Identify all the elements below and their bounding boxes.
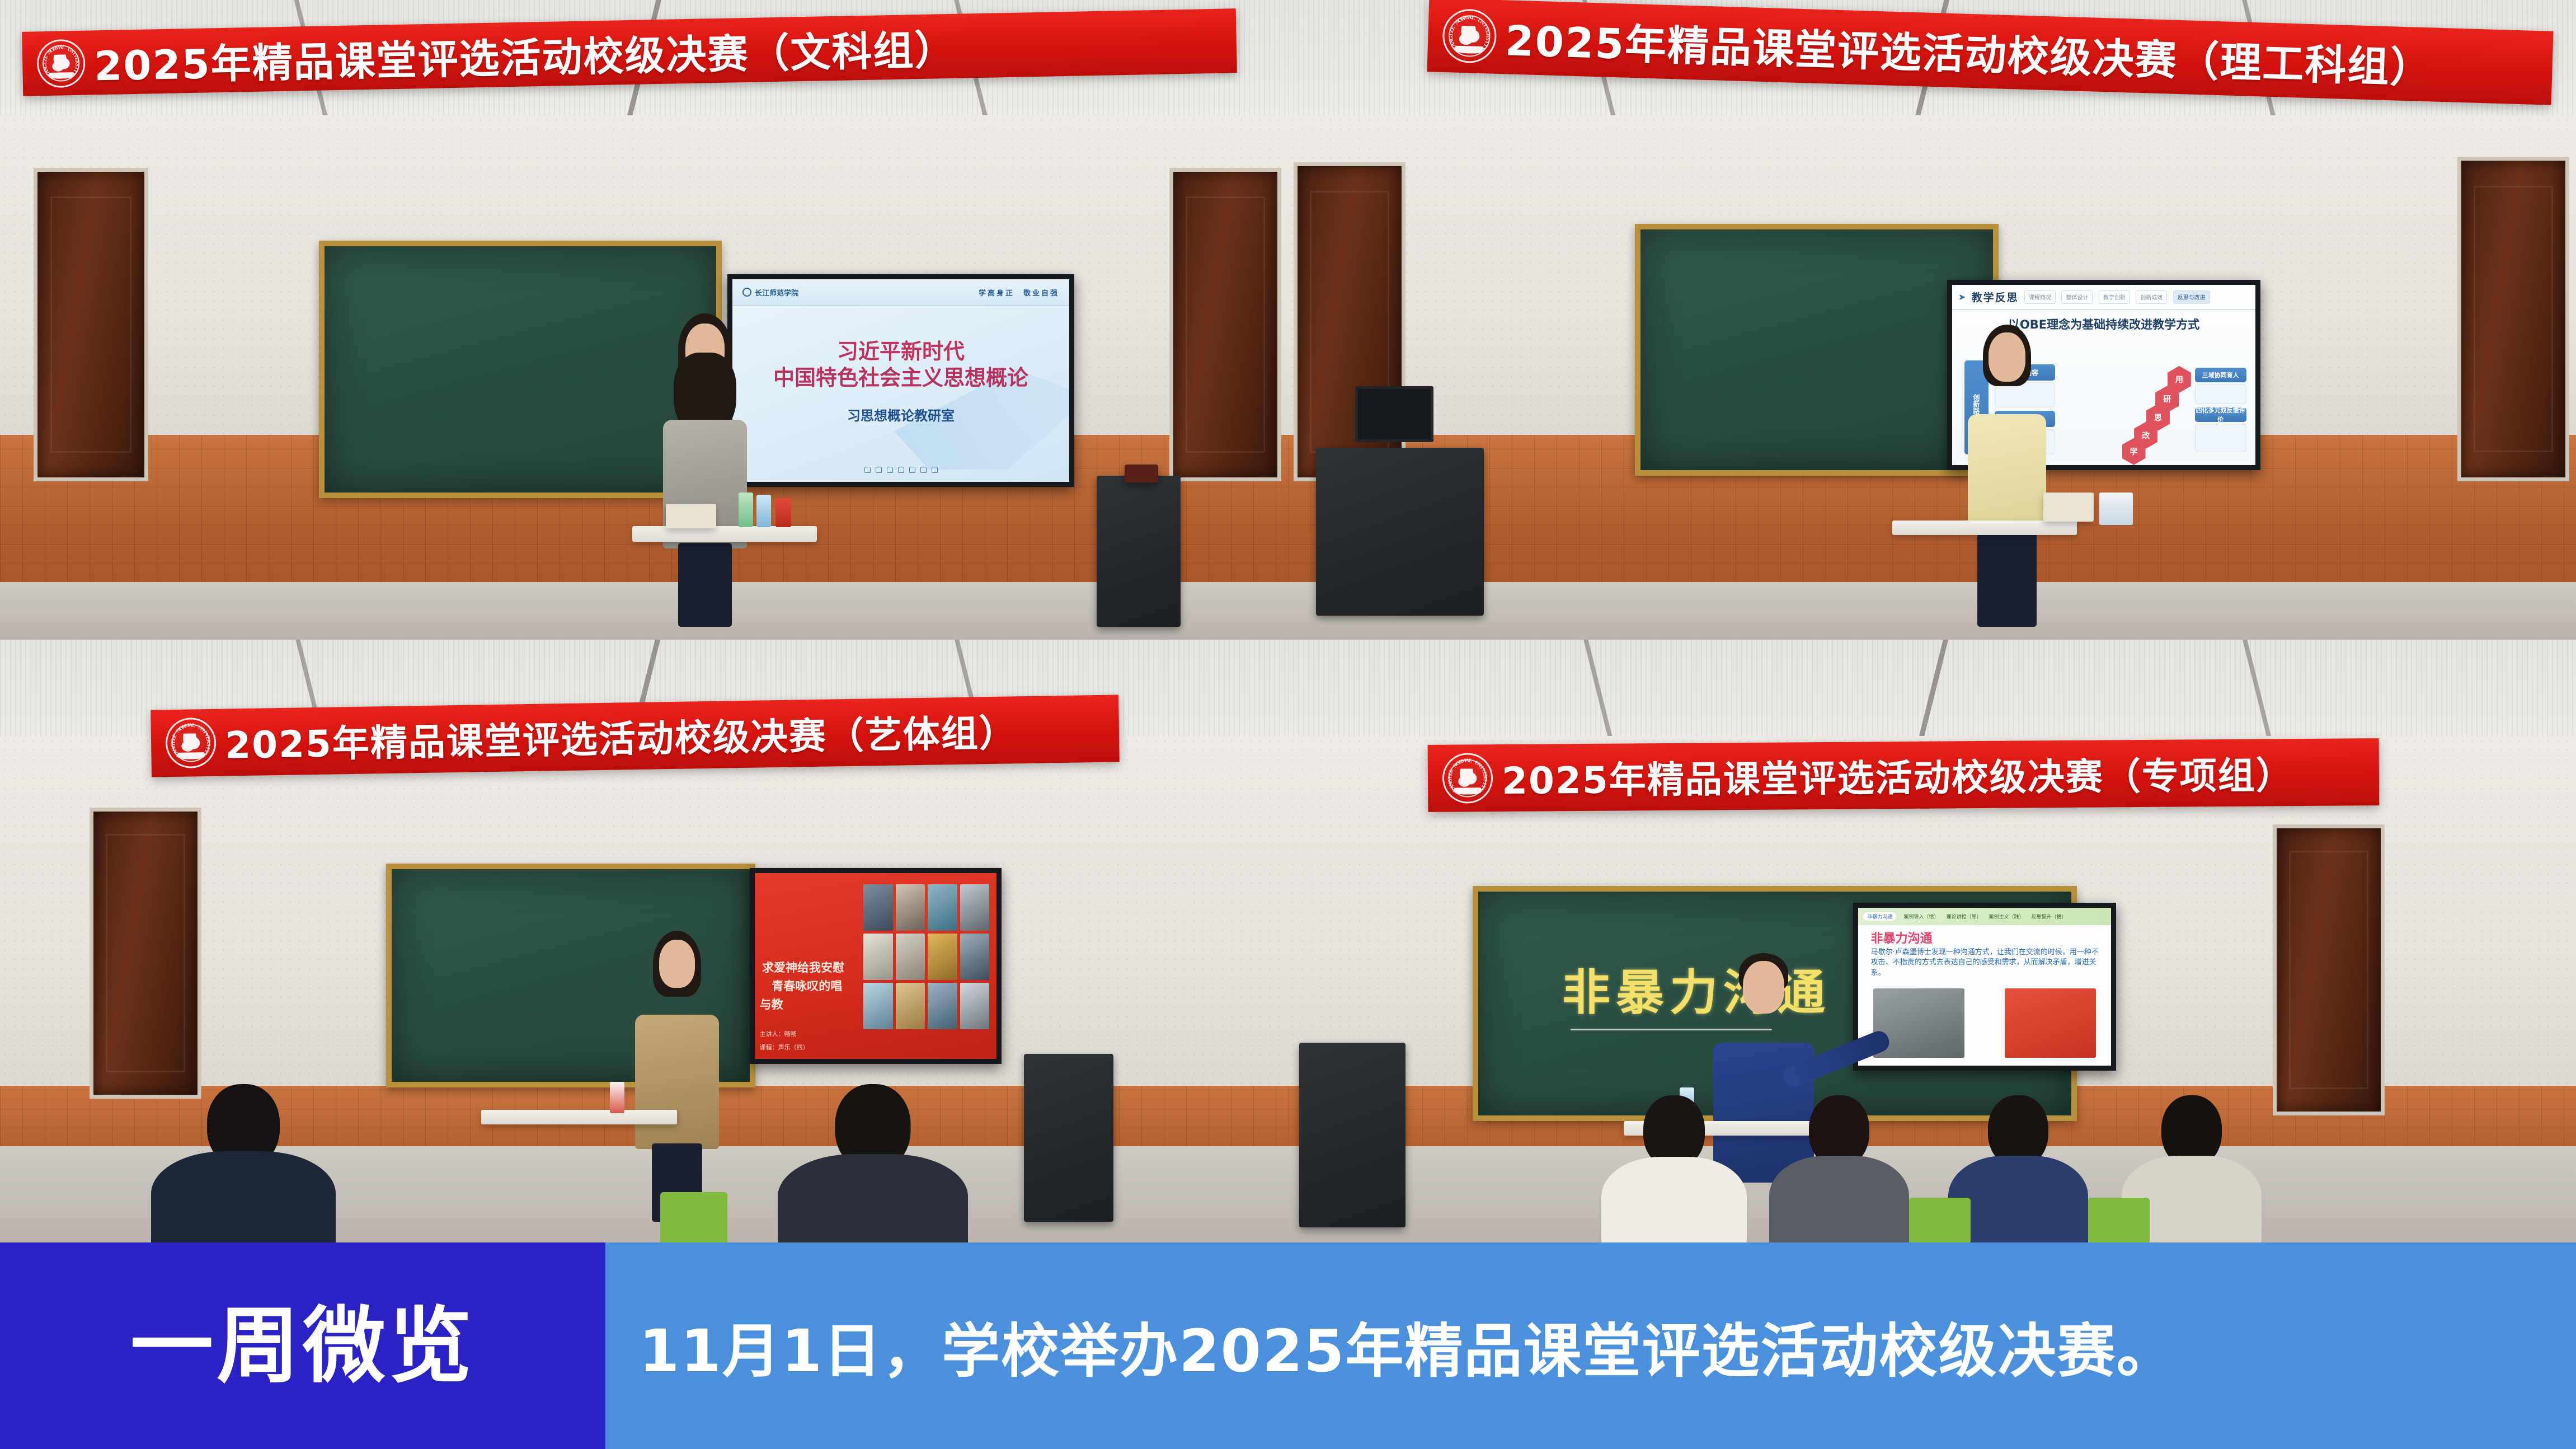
- computer-monitor: [1355, 386, 1433, 442]
- photo-panel-top-left: YANGTZE NORMAL UNIVERSITY 2025年精品课堂评选活动校…: [0, 0, 1288, 640]
- legs: [1977, 526, 2037, 627]
- tab-teaching-innovation[interactable]: 教学创新: [2099, 290, 2130, 304]
- classroom-door: [34, 168, 148, 481]
- banner-text: 2025年精品课堂评选活动校级决赛（艺体组）: [224, 703, 1017, 769]
- audience-row: [1288, 1086, 2576, 1242]
- seal-university-text: YANGTZE NORMAL UNIVERSITY: [1444, 754, 1492, 802]
- card-four-feedback: 四化多元双反馈评价: [2195, 407, 2246, 422]
- seal-university-text: YANGTZE NORMAL UNIVERSITY: [1444, 10, 1496, 62]
- nav-item-case-intro[interactable]: 案例导入（情）: [1903, 913, 1939, 920]
- floor: [0, 582, 1288, 640]
- slide-header-title: 教学反思: [1972, 289, 2019, 304]
- slide-topbar: 长江师范学院 学高身正 敬业自强: [732, 279, 1069, 306]
- head: [659, 940, 695, 988]
- supply-box: [2099, 493, 2133, 525]
- blackboard: [1635, 224, 1999, 476]
- photo-grid: YANGTZE NORMAL UNIVERSITY 2025年精品课堂评选活动校…: [0, 0, 2576, 1242]
- slide-line1: 求爱神给我安慰: [762, 959, 844, 976]
- slide-line2: 青春咏叹的唱: [772, 977, 842, 994]
- shoulders: [151, 1151, 336, 1242]
- zoom-icon[interactable]: [920, 467, 927, 473]
- lectern-table: [632, 526, 817, 542]
- grid-icon[interactable]: [876, 467, 882, 473]
- shoulders: [1769, 1156, 1909, 1242]
- audience-member: [1769, 1095, 1909, 1242]
- equipment-cabinet: [1316, 448, 1484, 616]
- classroom-scene: YANGTZE NORMAL UNIVERSITY 2025年精品课堂评选活动校…: [0, 640, 1288, 1242]
- banner-text: 2025年精品课堂评选活动校级决赛（专项组）: [1502, 745, 2294, 805]
- shoulders: [1601, 1157, 1747, 1242]
- slide-thought-course: 长江师范学院 学高身正 敬业自强 习近平新时代 中国特色社会主义思想概论 习思想…: [732, 279, 1069, 482]
- audience-member: [778, 1084, 968, 1242]
- classroom-scene: YANGTZE NORMAL UNIVERSITY 2025年精品课堂评选活动校…: [1288, 0, 2576, 640]
- photo-panel-bottom-right: YANGTZE NORMAL UNIVERSITY 2025年精品课堂评选活动校…: [1288, 640, 2576, 1242]
- presenter-teacher: [1954, 325, 2060, 627]
- head: [1989, 332, 2025, 382]
- caption-text: 11月1日，学校举办2025年精品课堂评选活动校级决赛。: [605, 1303, 2176, 1388]
- pointer-icon[interactable]: [887, 467, 893, 473]
- card-four-feedback-note: [2195, 424, 2246, 453]
- classroom-door-right: [1169, 168, 1281, 481]
- slide-brand: 长江师范学院: [742, 287, 798, 298]
- card-three-domain-label: 三域协同育人: [2202, 371, 2239, 379]
- eraser-icon[interactable]: [909, 467, 915, 473]
- university-seal: YANGTZE NORMAL UNIVERSITY: [1442, 753, 1493, 804]
- artwork-tile: [960, 983, 989, 1029]
- tab-course-overview[interactable]: 课程概况: [2024, 290, 2056, 304]
- nav-item-theory[interactable]: 理论讲授（导）: [1946, 913, 1981, 920]
- tissue-box: [666, 504, 716, 528]
- classroom-door-right: [2457, 157, 2569, 481]
- caption-bar: 一周微览 11月1日，学校举办2025年精品课堂评选活动校级决赛。: [0, 1242, 2576, 1449]
- slide-nonviolent-communication: 非暴力沟通 案例导入（情） 理论讲授（导） 案例主义（践） 反思提升（悟） 非暴…: [1858, 908, 2111, 1066]
- chair: [2088, 1198, 2150, 1242]
- slide-title-line2: 中国特色社会主义思想概论: [732, 360, 1069, 391]
- audience-member: [151, 1084, 336, 1242]
- water-bottle: [739, 493, 753, 527]
- section-tag: 一周微览: [0, 1242, 605, 1449]
- slide-heading: 非暴力沟通: [1871, 929, 1933, 946]
- slide-line3: 与教: [760, 996, 783, 1012]
- lectern-table: [1892, 520, 2077, 535]
- slide-course: 课程：声乐（四）: [760, 1043, 809, 1052]
- card-three-domain: 三域协同育人: [2195, 368, 2246, 382]
- artwork-tile: [960, 884, 989, 931]
- print-icon[interactable]: [864, 467, 871, 473]
- audience-row: [0, 1086, 1288, 1242]
- artwork-tile: [863, 934, 892, 980]
- seal-university-text: YANGTZE NORMAL UNIVERSITY: [38, 40, 84, 86]
- artwork-tile: [928, 934, 957, 980]
- university-seal: YANGTZE NORMAL UNIVERSITY: [1442, 8, 1497, 64]
- classroom-door: [2273, 824, 2385, 1115]
- illustration-photo: [2005, 988, 2096, 1058]
- slide-nav: 非暴力沟通 案例导入（情） 理论讲授（导） 案例主义（践） 反思提升（悟）: [1858, 908, 2111, 925]
- legs: [678, 543, 732, 627]
- classroom-scene: YANGTZE NORMAL UNIVERSITY 2025年精品课堂评选活动校…: [1288, 640, 2576, 1242]
- banner-text: 2025年精品课堂评选活动校级决赛（文科组）: [93, 17, 956, 92]
- podium-console: [1125, 465, 1158, 482]
- pen-icon[interactable]: [898, 467, 904, 473]
- photo-panel-bottom-left: YANGTZE NORMAL UNIVERSITY 2025年精品课堂评选活动校…: [0, 640, 1288, 1242]
- water-bottle-2: [756, 495, 771, 527]
- artwork-thumbnail-grid: [863, 884, 989, 1029]
- artwork-tile: [896, 983, 925, 1029]
- card-four-feedback-label: 四化多元双反馈评价: [2195, 406, 2246, 424]
- caption-box: 11月1日，学校举办2025年精品课堂评选活动校级决赛。: [605, 1242, 2576, 1449]
- classroom-scene: YANGTZE NORMAL UNIVERSITY 2025年精品课堂评选活动校…: [0, 0, 1288, 640]
- artwork-tile: [928, 983, 957, 1029]
- artwork-tile: [960, 934, 989, 980]
- equipment-cabinet: [1097, 476, 1181, 627]
- slide-subtitle: 习思想概论教研室: [732, 405, 1069, 424]
- nav-item-nvc[interactable]: 非暴力沟通: [1863, 912, 1896, 921]
- torso: [1968, 414, 2046, 532]
- slide-body-text: 马歇尔·卢森堡博士发现一种沟通方式，让我们在交流的时候，用一种不攻击、不指责的方…: [1871, 948, 2101, 979]
- university-logo-icon: [742, 288, 751, 297]
- nav-item-reflection[interactable]: 反思提升（悟）: [2032, 913, 2067, 920]
- card-three-domain-note: [2195, 384, 2246, 404]
- slide-brand-label: 长江师范学院: [755, 287, 798, 298]
- slide-presenter: 主讲人：畅畅: [760, 1029, 797, 1038]
- artwork-tile: [928, 884, 957, 931]
- slide-toolbar[interactable]: [827, 462, 975, 478]
- nav-item-practice[interactable]: 案例主义（践）: [1989, 913, 2024, 920]
- audience-member: [1601, 1095, 1747, 1242]
- classroom-door: [90, 808, 201, 1099]
- artwork-tile: [863, 983, 892, 1029]
- tab-innovation-results[interactable]: 创新成效: [2136, 290, 2167, 304]
- event-banner-bottom-right: YANGTZE NORMAL UNIVERSITY 2025年精品课堂评选活动校…: [1428, 738, 2380, 812]
- university-seal: YANGTZE NORMAL UNIVERSITY: [165, 718, 216, 768]
- tab-reflection-improvement[interactable]: 反思与改进: [2173, 290, 2210, 304]
- red-cup: [775, 498, 791, 527]
- artwork-tile: [896, 934, 925, 980]
- artwork-tile: [863, 884, 892, 931]
- weekly-review-poster: YANGTZE NORMAL UNIVERSITY 2025年精品课堂评选活动校…: [0, 0, 2576, 1449]
- projection-screen: 长江师范学院 学高身正 敬业自强 习近平新时代 中国特色社会主义思想概论 习思想…: [727, 274, 1074, 487]
- chair: [1909, 1198, 1971, 1242]
- chair: [660, 1192, 727, 1242]
- seal-university-text: YANGTZE NORMAL UNIVERSITY: [167, 719, 214, 767]
- head: [1743, 961, 1784, 1014]
- slide-vocal-music: 求爱神给我安慰 青春咏叹的唱 与教 主讲人：畅畅 课程：声乐（四）: [755, 873, 996, 1059]
- photo-panel-top-right: YANGTZE NORMAL UNIVERSITY 2025年精品课堂评选活动校…: [1288, 0, 2576, 640]
- chevron-right-icon: ➤: [1958, 292, 1966, 302]
- slide-motto: 学高身正 敬业自强: [979, 287, 1059, 298]
- slide-header: ➤ 教学反思 课程概况 整体设计 教学创新 创新成效 反思与改进: [1952, 285, 2255, 310]
- university-seal: YANGTZE NORMAL UNIVERSITY: [36, 39, 86, 88]
- artwork-tile: [896, 884, 925, 931]
- screen-icon[interactable]: [932, 467, 938, 473]
- section-tag-label: 一周微览: [130, 1305, 475, 1387]
- projection-screen: 求爱神给我安慰 青春咏叹的唱 与教 主讲人：畅畅 课程：声乐（四）: [750, 868, 1002, 1064]
- tissue-box: [2043, 493, 2094, 522]
- tab-overall-design[interactable]: 整体设计: [2061, 290, 2093, 304]
- shoulders: [778, 1154, 968, 1242]
- presenter-teacher: [649, 313, 761, 627]
- projection-screen: 非暴力沟通 案例导入（情） 理论讲授（导） 案例主义（践） 反思提升（悟） 非暴…: [1853, 903, 2116, 1071]
